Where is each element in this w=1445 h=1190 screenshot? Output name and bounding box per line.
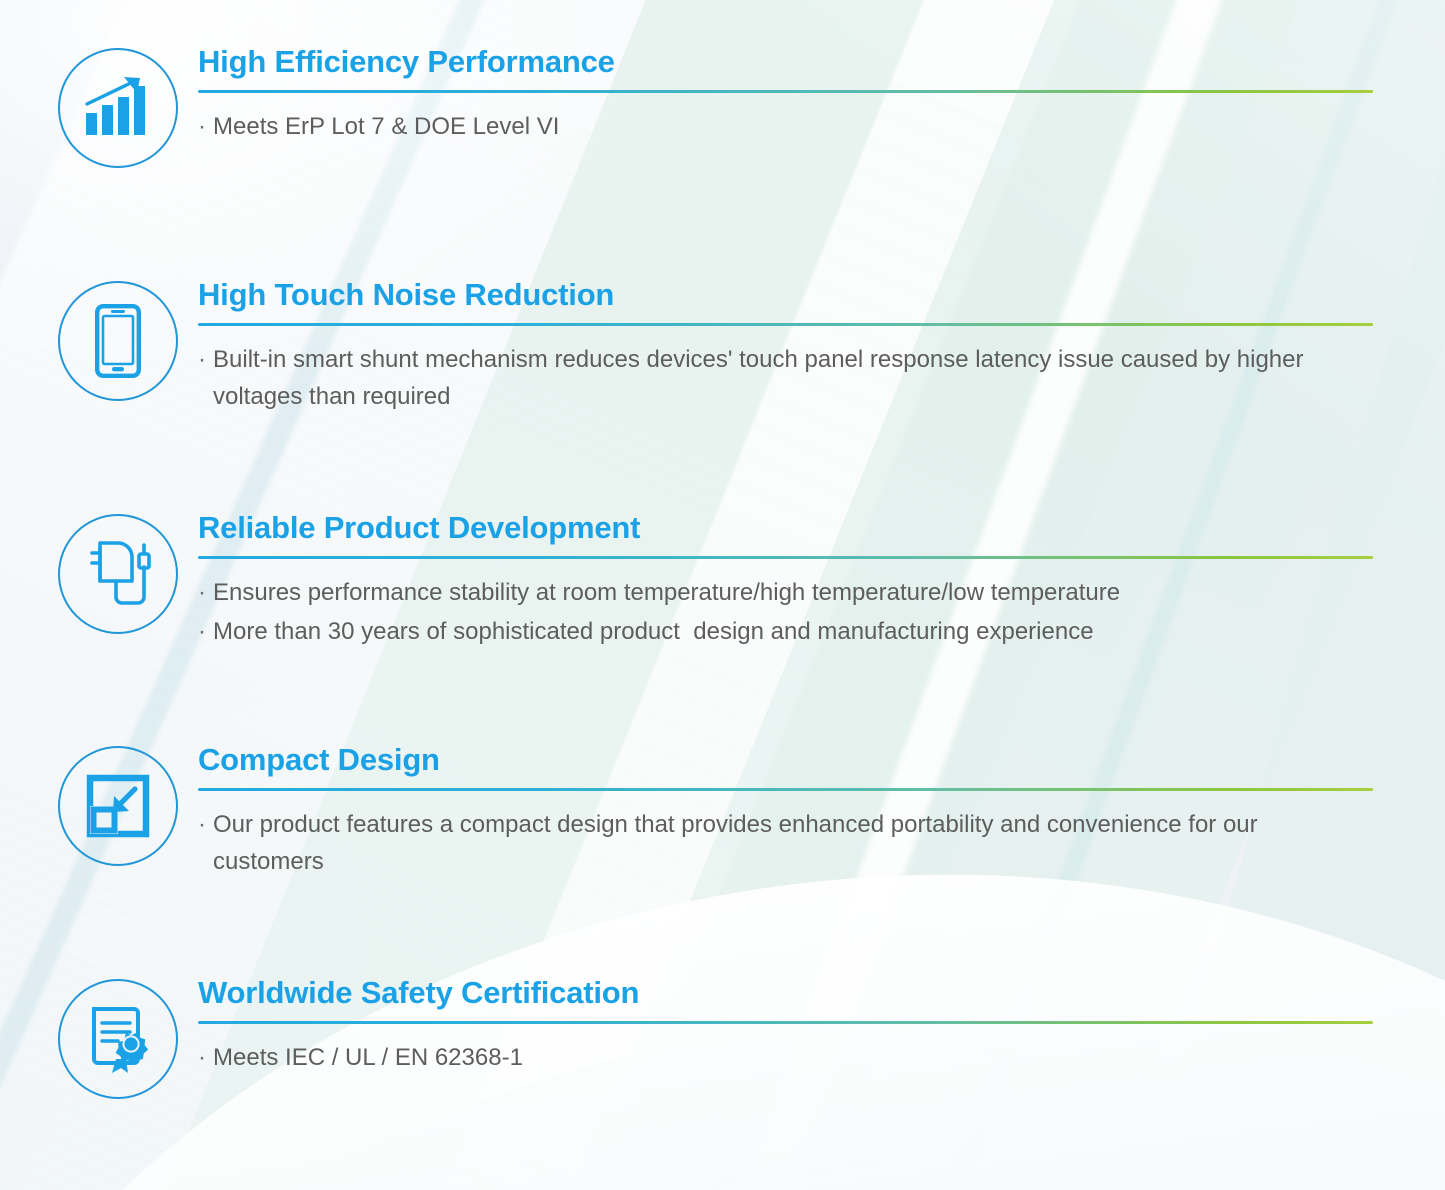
feature-divider	[198, 323, 1373, 326]
feature-icon-container	[52, 742, 184, 866]
power-adapter-icon	[58, 514, 178, 634]
feature-divider	[198, 788, 1373, 791]
feature-divider	[198, 556, 1373, 559]
feature-item-compact-design: Compact Design · Our product features a …	[52, 742, 1373, 881]
feature-divider	[198, 90, 1373, 93]
feature-divider	[198, 1021, 1373, 1024]
feature-item-reliable-product-development: Reliable Product Development · Ensures p…	[52, 510, 1373, 651]
feature-item-worldwide-safety-certification: Worldwide Safety Certification · Meets I…	[52, 975, 1373, 1099]
feature-bullet-text: Meets IEC / UL / EN 62368-1	[213, 1039, 1373, 1077]
feature-title: High Touch Noise Reduction	[198, 277, 1373, 314]
feature-bullet-text: Built-in smart shunt mechanism reduces d…	[213, 341, 1373, 417]
feature-bullet-list: · Meets ErP Lot 7 & DOE Level VI	[198, 108, 1373, 146]
feature-body: High Touch Noise Reduction · Built-in sm…	[184, 277, 1373, 416]
smartphone-icon	[58, 281, 178, 401]
feature-bullet: · Meets ErP Lot 7 & DOE Level VI	[198, 108, 1373, 146]
feature-bullet-text: More than 30 years of sophisticated prod…	[213, 613, 1373, 651]
feature-body: Reliable Product Development · Ensures p…	[184, 510, 1373, 651]
feature-bullet-list: · Built-in smart shunt mechanism reduces…	[198, 341, 1373, 417]
feature-bullet-list: · Our product features a compact design …	[198, 806, 1373, 882]
feature-title: Reliable Product Development	[198, 510, 1373, 547]
feature-icon-container	[52, 975, 184, 1099]
feature-item-high-efficiency-performance: High Efficiency Performance · Meets ErP …	[52, 44, 1373, 168]
feature-title: Compact Design	[198, 742, 1373, 779]
feature-title: Worldwide Safety Certification	[198, 975, 1373, 1012]
feature-body: High Efficiency Performance · Meets ErP …	[184, 44, 1373, 145]
feature-bullet-text: Ensures performance stability at room te…	[213, 574, 1373, 612]
bullet-marker-icon: ·	[198, 341, 206, 379]
feature-title: High Efficiency Performance	[198, 44, 1373, 81]
feature-bullet: · Meets IEC / UL / EN 62368-1	[198, 1039, 1373, 1077]
compact-resize-icon	[58, 746, 178, 866]
feature-body: Compact Design · Our product features a …	[184, 742, 1373, 881]
feature-icon-container	[52, 277, 184, 401]
bullet-marker-icon: ·	[198, 574, 206, 612]
bullet-marker-icon: ·	[198, 806, 206, 844]
feature-bullet: · Ensures performance stability at room …	[198, 574, 1373, 612]
feature-bullet-text: Meets ErP Lot 7 & DOE Level VI	[213, 108, 1373, 146]
bullet-marker-icon: ·	[198, 1039, 206, 1077]
feature-bullet-text: Our product features a compact design th…	[213, 806, 1373, 882]
bullet-marker-icon: ·	[198, 613, 206, 651]
feature-body: Worldwide Safety Certification · Meets I…	[184, 975, 1373, 1076]
feature-item-high-touch-noise-reduction: High Touch Noise Reduction · Built-in sm…	[52, 277, 1373, 416]
feature-bullet: · Our product features a compact design …	[198, 806, 1373, 882]
feature-bullet: · More than 30 years of sophisticated pr…	[198, 613, 1373, 651]
feature-list-page: High Efficiency Performance · Meets ErP …	[0, 0, 1445, 1190]
feature-icon-container	[52, 44, 184, 168]
bar-chart-growth-icon	[58, 48, 178, 168]
certificate-award-icon	[58, 979, 178, 1099]
feature-bullet: · Built-in smart shunt mechanism reduces…	[198, 341, 1373, 417]
feature-bullet-list: · Ensures performance stability at room …	[198, 574, 1373, 652]
bullet-marker-icon: ·	[198, 108, 206, 146]
feature-bullet-list: · Meets IEC / UL / EN 62368-1	[198, 1039, 1373, 1077]
feature-icon-container	[52, 510, 184, 634]
